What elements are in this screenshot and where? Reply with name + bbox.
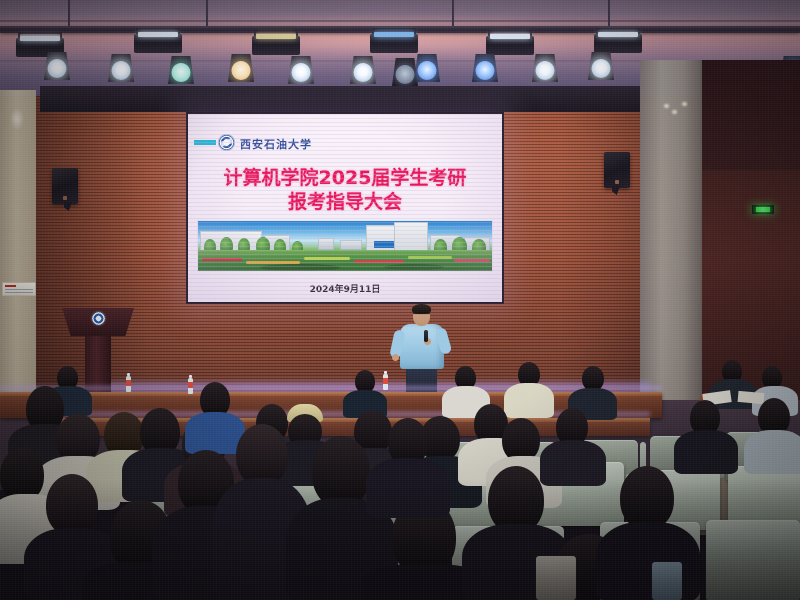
seat [706, 520, 800, 600]
presenter-hair [412, 304, 431, 314]
slide-title-line-2: 报考指导大会 [188, 190, 502, 214]
stage-light-par [532, 54, 558, 82]
pillar-reflection [682, 102, 687, 106]
photo-hedge [384, 264, 444, 270]
photo-building-glass [374, 241, 394, 248]
projection-screen: 西安石油大学 计算机学院2025届学生考研 报考指导大会 [188, 114, 502, 302]
photo-flowerbed [354, 260, 404, 263]
notebook [738, 391, 765, 404]
university-logo-text: 西安石油大学 [240, 136, 312, 152]
photo-hedge [260, 264, 340, 271]
pillar-highlight [10, 108, 24, 130]
truss-drop [452, 0, 454, 26]
stage-light-par [472, 54, 498, 82]
stage-light-par [288, 56, 314, 84]
slide-title: 计算机学院2025届学生考研 报考指导大会 [188, 166, 502, 214]
lecture-hall-photo: 西安石油大学 计算机学院2025届学生考研 报考指导大会 [0, 0, 800, 600]
stage-light-par [108, 54, 134, 82]
pillar-reflection [672, 110, 677, 114]
stage-light-par [350, 56, 376, 84]
water-bottle [188, 378, 193, 394]
truss-drop [608, 0, 610, 26]
water-bottle [383, 374, 388, 390]
pillar-reflection [664, 104, 669, 108]
seat [728, 466, 800, 528]
wall-speaker-left [52, 168, 78, 204]
left-pillar [0, 90, 36, 430]
podium-stem [85, 334, 111, 392]
photo-flowerbed [408, 256, 452, 259]
stage-light-par [588, 52, 614, 80]
exit-sign [752, 205, 774, 214]
tote-bag [536, 556, 576, 600]
slide-accent-bar [194, 140, 216, 145]
presenter-hand-left [392, 354, 399, 361]
photo-flowerbed [454, 259, 490, 262]
ceiling-soffit [40, 86, 640, 112]
photo-building [340, 240, 362, 250]
stage-light-par [168, 56, 194, 84]
projection-screen-frame: 西安石油大学 计算机学院2025届学生考研 报考指导大会 [186, 112, 504, 304]
slide-date: 2024年9月11日 [188, 282, 502, 295]
wall-notice-sign [2, 282, 36, 296]
photo-flowerbed [202, 258, 242, 261]
photo-flowerbed [304, 257, 350, 260]
microphone [424, 330, 428, 342]
stage-light-par [228, 54, 254, 82]
university-logo-icon [218, 134, 235, 151]
slide-campus-photo [197, 220, 493, 272]
water-bottle [126, 376, 131, 392]
photo-lawn [198, 250, 492, 271]
exit-sign-glyph [756, 207, 770, 212]
stage-light-par [414, 54, 440, 82]
podium-emblem-icon [92, 312, 105, 325]
wall-speaker-right [604, 152, 630, 188]
truss-drop [68, 0, 70, 26]
bag [652, 562, 682, 600]
right-pillar [640, 60, 702, 430]
truss-drop [206, 0, 208, 26]
ceiling-seam [0, 20, 800, 22]
stage-light-par [44, 52, 70, 80]
slide-title-line-1: 计算机学院2025届学生考研 [188, 166, 502, 190]
photo-building [318, 238, 334, 250]
